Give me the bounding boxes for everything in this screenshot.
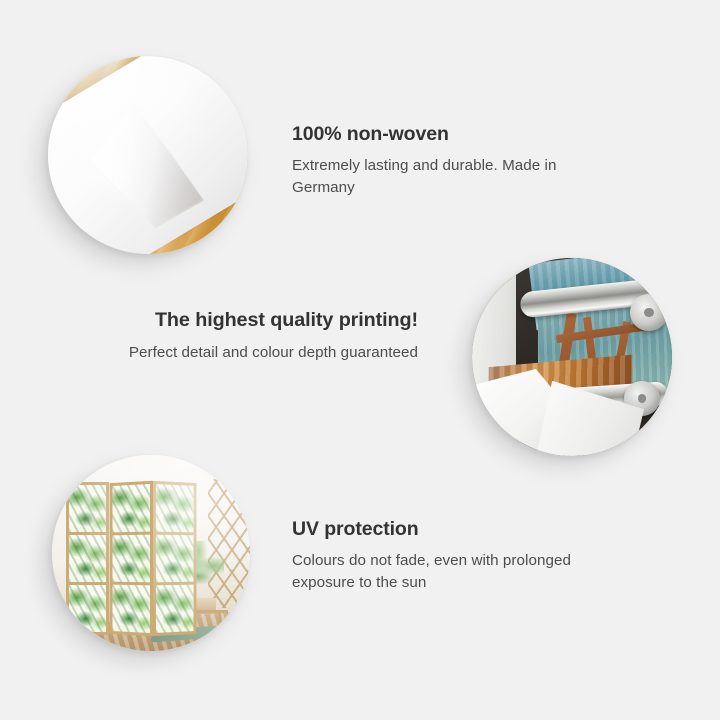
feature-body-uv-protection: Colours do not fade, even with prolonged… (292, 550, 592, 593)
peeled-wallpaper-corner-image (48, 56, 248, 254)
room-divider-illustration (52, 455, 250, 651)
leaf-cell (113, 585, 150, 633)
gloss-highlight (48, 56, 248, 254)
feature-text-uv-protection: UV protection Colours do not fade, even … (292, 517, 592, 594)
feature-body-printing: Perfect detail and colour depth guarante… (100, 342, 418, 364)
wallpaper-illustration (48, 56, 248, 254)
feature-text-printing: The highest quality printing! Perfect de… (100, 308, 418, 363)
printing-press-illustration (472, 258, 672, 456)
roller-end-disc-top (630, 294, 668, 332)
feature-heading-non-woven: 100% non-woven (292, 122, 602, 146)
printing-press-image (472, 258, 672, 456)
feature-body-non-woven: Extremely lasting and durable. Made in G… (292, 155, 602, 198)
leaf-cell (113, 484, 150, 535)
feature-heading-printing: The highest quality printing! (100, 308, 418, 333)
tropical-room-divider-image (52, 455, 250, 651)
feature-heading-uv-protection: UV protection (292, 517, 592, 541)
product-features-panel: 100% non-woven Extremely lasting and dur… (0, 0, 720, 720)
leaf-cell (113, 535, 150, 586)
screen-panel-2 (110, 481, 153, 636)
feature-text-non-woven: 100% non-woven Extremely lasting and dur… (292, 122, 602, 199)
